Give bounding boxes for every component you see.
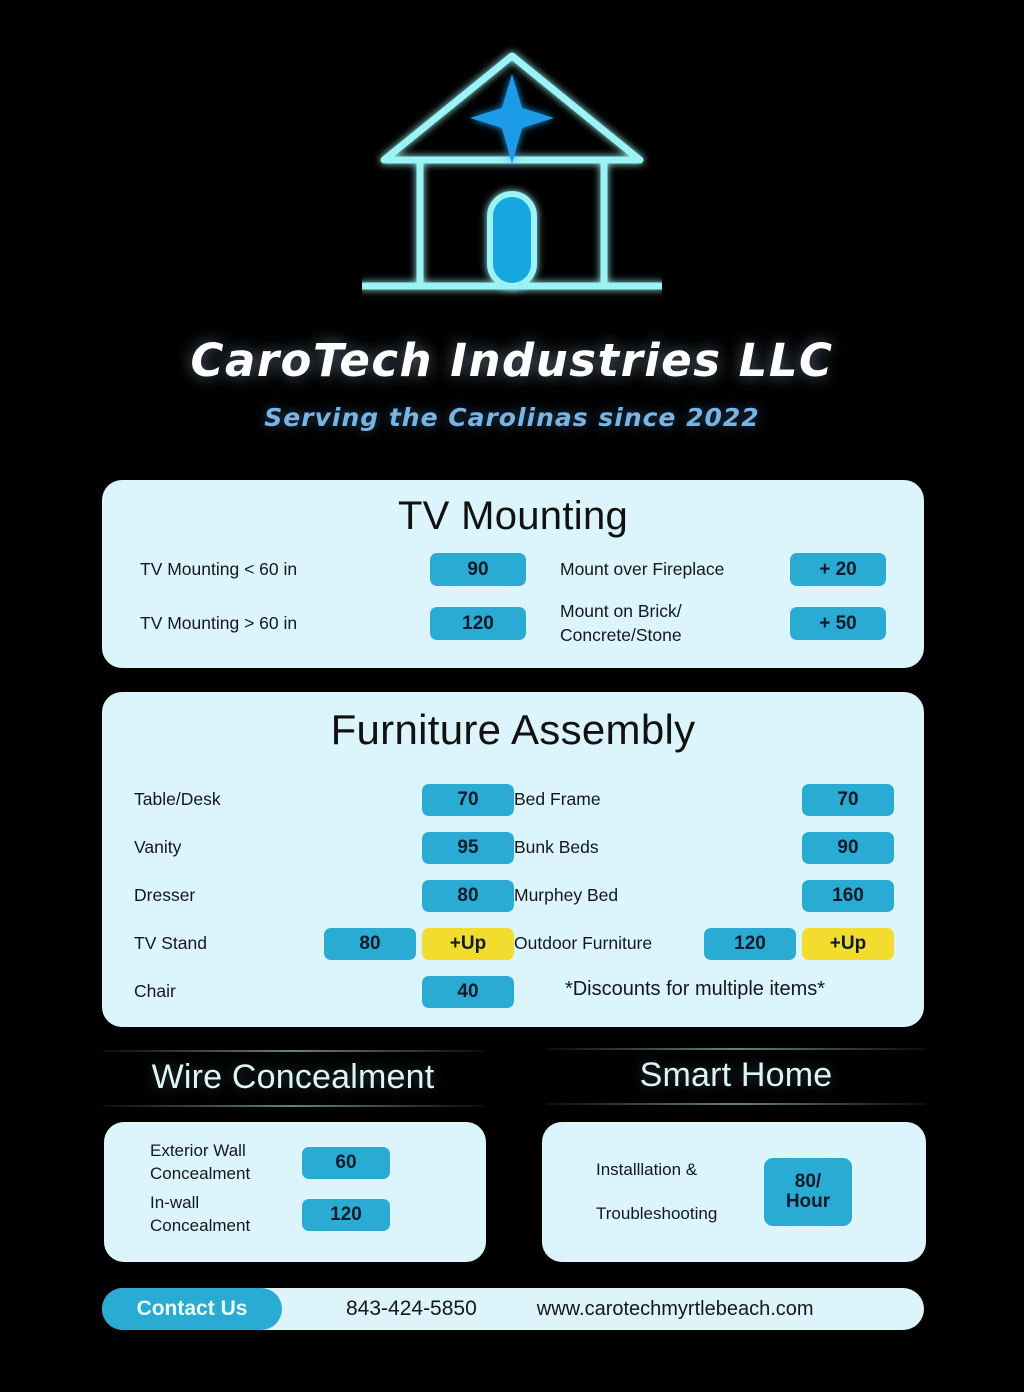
item-label-line2: Troubleshooting [596, 1204, 717, 1223]
smart-home-title: Smart Home [546, 1050, 926, 1103]
item-label: Bunk Beds [514, 836, 802, 860]
footer-phone[interactable]: 843-424-5850 [346, 1297, 477, 1321]
list-item: In-wall Concealment 120 [150, 1192, 486, 1238]
list-item: Bunk Beds 90 [514, 824, 894, 872]
list-item: Bed Frame 70 [514, 776, 894, 824]
list-item: Murphey Bed 160 [514, 872, 894, 920]
item-price: 95 [422, 832, 514, 864]
item-price: 90 [802, 832, 894, 864]
tv-row-label: Mount on Brick/ Concrete/Stone [560, 600, 790, 647]
item-label-line1: Exterior Wall [150, 1141, 246, 1160]
tv-row-price: 90 [430, 553, 526, 586]
item-label: Vanity [134, 836, 422, 860]
door-shape [490, 194, 534, 286]
star-icon [470, 74, 554, 164]
item-label: TV Stand [134, 932, 324, 956]
item-label: Dresser [134, 884, 422, 908]
wire-concealment-header: Wire Concealment [102, 1050, 484, 1107]
item-price-line2: Hour [786, 1192, 830, 1212]
tagline: Serving the Carolinas since 2022 [0, 403, 1024, 432]
divider-bottom [102, 1105, 484, 1107]
item-label: Bed Frame [514, 788, 802, 812]
list-item: Dresser 80 [134, 872, 514, 920]
furniture-left-column: Table/Desk 70 Vanity 95 Dresser 80 TV St… [134, 776, 514, 1016]
list-item: Exterior Wall Concealment 60 [150, 1140, 486, 1186]
discount-note: *Discounts for multiple items* [496, 978, 894, 1001]
furniture-columns: Table/Desk 70 Vanity 95 Dresser 80 TV St… [102, 776, 924, 1016]
footer-bar: Contact Us 843-424-5850 www.carotechmyrt… [102, 1288, 924, 1330]
item-label-line1: Installlation & [596, 1160, 697, 1179]
company-name: CaroTech Industries LLC [0, 334, 1024, 387]
item-price: 80/ Hour [764, 1158, 852, 1226]
tv-mounting-card: TV Mounting TV Mounting < 60 in 90 Mount… [102, 480, 924, 668]
tv-row-price: 120 [430, 607, 526, 640]
house-with-star-icon [362, 42, 662, 312]
furniture-assembly-title: Furniture Assembly [102, 706, 924, 754]
list-item: Installlation & Troubleshooting 80/ Hour [542, 1122, 926, 1262]
item-label: Table/Desk [134, 788, 422, 812]
item-price: 120 [704, 928, 796, 960]
item-price: 120 [302, 1199, 390, 1231]
tv-mounting-grid: TV Mounting < 60 in 90 Mount over Firepl… [102, 553, 924, 647]
smart-home-card: Installlation & Troubleshooting 80/ Hour [542, 1122, 926, 1262]
logo-block [0, 0, 1024, 312]
tv-row-price: + 20 [790, 553, 886, 586]
item-price: 60 [302, 1147, 390, 1179]
item-label: Murphey Bed [514, 884, 802, 908]
wire-concealment-card: Exterior Wall Concealment 60 In-wall Con… [104, 1122, 486, 1262]
list-item: Chair 40 [134, 968, 514, 1016]
item-price-extra: +Up [422, 928, 514, 960]
item-label: Exterior Wall Concealment [150, 1140, 302, 1186]
tv-row-label: TV Mounting > 60 in [140, 612, 430, 636]
list-item: Vanity 95 [134, 824, 514, 872]
item-price: 70 [422, 784, 514, 816]
wire-rows: Exterior Wall Concealment 60 In-wall Con… [104, 1122, 486, 1238]
item-label: Installlation & Troubleshooting [596, 1148, 764, 1236]
item-label-line1: In-wall [150, 1193, 199, 1212]
list-item: TV Stand 80 +Up [134, 920, 514, 968]
list-item: Table/Desk 70 [134, 776, 514, 824]
item-label: In-wall Concealment [150, 1192, 302, 1238]
item-price-line1: 80/ [795, 1172, 821, 1192]
furniture-right-column: Bed Frame 70 Bunk Beds 90 Murphey Bed 16… [514, 776, 894, 1016]
footer-website[interactable]: www.carotechmyrtlebeach.com [537, 1298, 814, 1321]
item-price: 160 [802, 880, 894, 912]
contact-us-button[interactable]: Contact Us [102, 1288, 282, 1330]
item-label: Outdoor Furniture [514, 932, 704, 956]
item-label-line2: Concealment [150, 1216, 250, 1235]
item-price: 80 [422, 880, 514, 912]
item-label-line2: Concealment [150, 1164, 250, 1183]
item-price-extra: +Up [802, 928, 894, 960]
brand-block: CaroTech Industries LLC Serving the Caro… [0, 334, 1024, 432]
wire-concealment-title: Wire Concealment [102, 1052, 484, 1105]
item-price: 80 [324, 928, 416, 960]
smart-home-header: Smart Home [546, 1048, 926, 1105]
furniture-assembly-card: Furniture Assembly Table/Desk 70 Vanity … [102, 692, 924, 1027]
item-price: 70 [802, 784, 894, 816]
tv-mounting-title: TV Mounting [102, 494, 924, 539]
tv-row-label: Mount over Fireplace [560, 558, 790, 582]
tv-row-price: + 50 [790, 607, 886, 640]
item-label: Chair [134, 980, 422, 1004]
divider-bottom [546, 1103, 926, 1105]
tv-row-label: TV Mounting < 60 in [140, 558, 430, 582]
list-item: Outdoor Furniture 120 +Up [514, 920, 894, 968]
